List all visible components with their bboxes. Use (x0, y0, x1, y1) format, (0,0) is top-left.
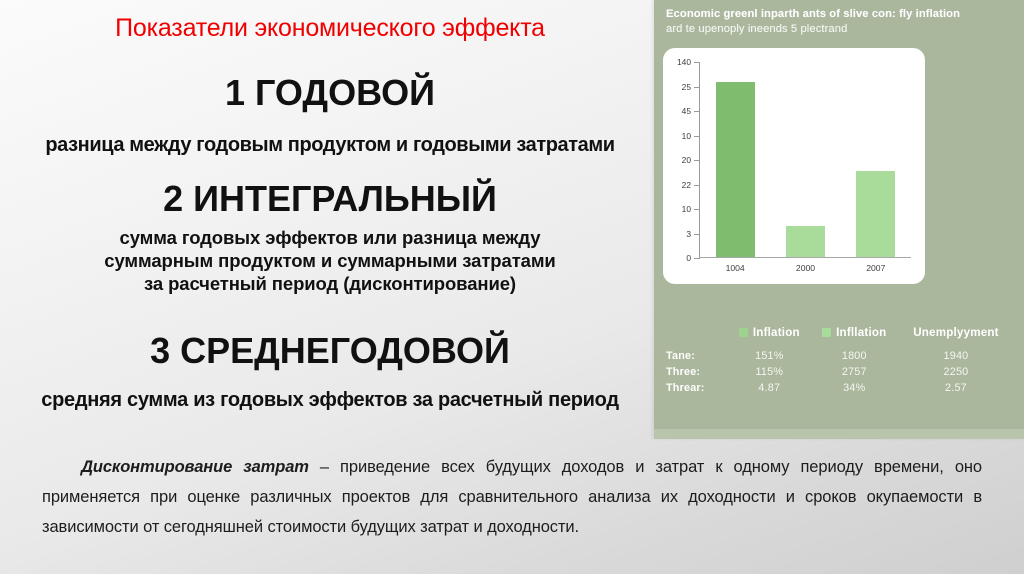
heading-annual: 1 ГОДОВОЙ (0, 72, 660, 114)
table-cell: 2250 (898, 364, 1014, 380)
chart-header-line-2: ard te upenoply ineends 5 plectrand (666, 22, 1016, 37)
subtext-integral-line-3: за расчетный период (дисконтирование) (0, 272, 660, 295)
x-axis (699, 257, 911, 258)
table-cell: 2.57 (898, 380, 1014, 396)
heading-integral: 2 ИНТЕГРАЛЬНЫЙ (0, 178, 660, 220)
table-row: Tane:151%18001940 (666, 348, 1014, 364)
x-axis-tick-label: 1004 (726, 263, 745, 273)
x-axis-tick-label: 2007 (866, 263, 885, 273)
table-cell: 151% (728, 348, 811, 364)
y-axis-tick-mark (694, 258, 700, 259)
subtext-annual: разница между годовым продуктом и годовы… (0, 134, 660, 157)
table-body: Tane:151%18001940Three:115%27572250Threa… (666, 348, 1014, 396)
table-header-row: InflationInfllationUnemplyyment (666, 326, 1014, 348)
y-axis-tick-label: 22 (682, 180, 691, 190)
legend-data-table: InflationInfllationUnemplyyment Tane:151… (666, 326, 1014, 396)
table-row: Three:115%27572250 (666, 364, 1014, 380)
chart-card: 14025451020221030 100420002007 (663, 48, 925, 284)
subtext-average-annual: средняя сумма из годовых эффектов за рас… (0, 389, 660, 412)
slide-canvas: Показатели экономического эффекта 1 ГОДО… (0, 0, 1024, 574)
heading-average-annual: 3 СРЕДНЕГОДОВОЙ (0, 330, 660, 372)
page-title: Показатели экономического эффекта (0, 14, 660, 43)
bar-chart-plot: 14025451020221030 100420002007 (699, 62, 911, 258)
chart-bar (786, 226, 825, 257)
bar-slot: 2000 (770, 62, 840, 257)
table-column-header: Inflation (728, 326, 811, 348)
chart-panel: Economic greenl inparth ants of slive co… (654, 0, 1024, 439)
y-axis-tick-label: 45 (682, 106, 691, 116)
bar-slot: 1004 (700, 62, 770, 257)
footer-term: Дисконтирование затрат (81, 458, 309, 476)
table-cell: 34% (811, 380, 898, 396)
y-axis-tick-label: 25 (682, 82, 691, 92)
table-corner-cell (666, 326, 728, 348)
table-cell: 115% (728, 364, 811, 380)
y-axis-tick-label: 20 (682, 155, 691, 165)
legend-header-row: InflationInfllationUnemplyyment (666, 326, 1014, 348)
bar-slot: 2007 (841, 62, 911, 257)
subtext-integral-line-2: суммарным продуктом и суммарными затрата… (0, 249, 660, 272)
legend-label: Inflation (753, 326, 800, 339)
legend-swatch-icon (739, 328, 748, 337)
slide-text-column: Показатели экономического эффекта 1 ГОДО… (0, 0, 660, 440)
y-axis-tick-label: 10 (682, 204, 691, 214)
legend-label: Unemplyyment (913, 326, 999, 339)
chart-legend-table: InflationInfllationUnemplyyment Tane:151… (666, 326, 1014, 396)
table-cell: 4.87 (728, 380, 811, 396)
y-axis-tick-label: 10 (682, 131, 691, 141)
chart-header-line-1: Economic greenl inparth ants of slive co… (666, 7, 1016, 22)
table-cell: 1940 (898, 348, 1014, 364)
subtext-integral-line-1: сумма годовых эффектов или разница между (0, 226, 660, 249)
legend-label: Infllation (836, 326, 886, 339)
table-column-header: Infllation (811, 326, 898, 348)
table-cell: 2757 (811, 364, 898, 380)
x-axis-tick-label: 2000 (796, 263, 815, 273)
table-row-header: Threar: (666, 380, 728, 396)
y-axis-tick-label: 0 (686, 253, 691, 263)
y-axis-tick-label: 140 (677, 57, 691, 67)
legend-swatch-icon (822, 328, 831, 337)
chart-bar (856, 171, 895, 257)
y-axis-tick-label: 3 (686, 229, 691, 239)
footer-paragraph: Дисконтирование затрат – приведение всех… (42, 452, 982, 542)
table-cell: 1800 (811, 348, 898, 364)
table-row: Threar:4.8734%2.57 (666, 380, 1014, 396)
bar-series: 100420002007 (700, 62, 911, 257)
table-row-header: Tane: (666, 348, 728, 364)
table-column-header: Unemplyyment (898, 326, 1014, 348)
table-row-header: Three: (666, 364, 728, 380)
subtext-integral: сумма годовых эффектов или разница между… (0, 226, 660, 295)
chart-bar (716, 82, 755, 258)
chart-panel-header: Economic greenl inparth ants of slive co… (666, 7, 1016, 37)
